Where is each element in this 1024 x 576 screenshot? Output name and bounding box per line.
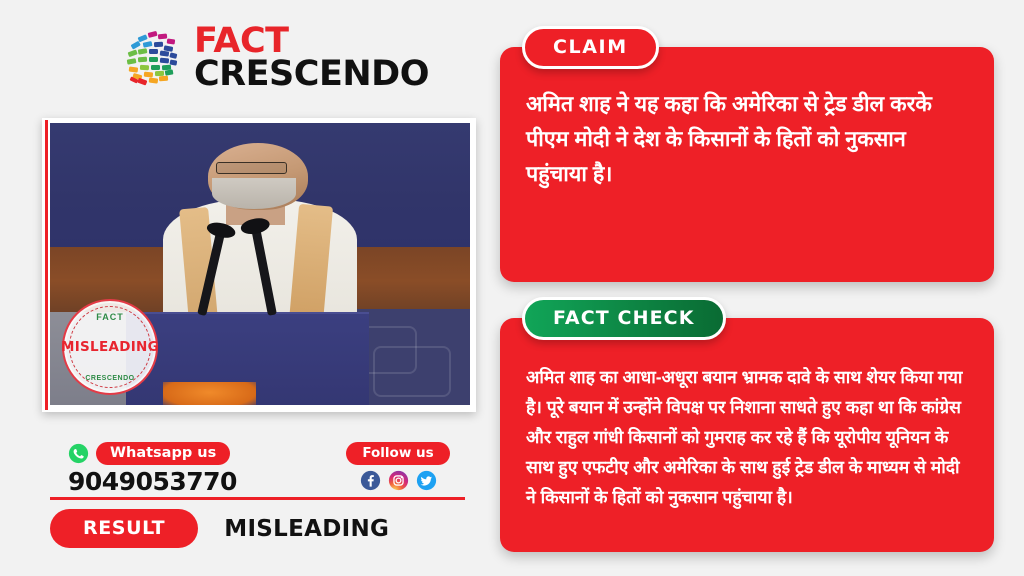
right-panel: CLAIM अमित शाह ने यह कहा कि अमेरिका से ट…: [492, 0, 1024, 576]
whatsapp-label[interactable]: Whatsapp us: [96, 442, 230, 465]
subject-photo: FACT MISLEADING CRESCENDO: [42, 118, 476, 412]
instagram-icon[interactable]: [388, 470, 409, 491]
fact-check-card: FACT CHECK अमित शाह का आधा-अधूरा बयान भ्…: [500, 318, 994, 552]
globe-mosaic-icon: [122, 27, 184, 89]
follow-block: Follow us: [333, 442, 463, 491]
twitter-icon[interactable]: [416, 470, 437, 491]
facebook-icon[interactable]: [360, 470, 381, 491]
stamp-bottom-text: CRESCENDO: [64, 375, 156, 382]
claim-body: अमित शाह ने यह कहा कि अमेरिका से ट्रेड ड…: [500, 47, 994, 215]
photo-accent-bar: [45, 120, 48, 410]
result-label: RESULT: [50, 509, 198, 548]
result-verdict: MISLEADING: [224, 516, 389, 542]
fact-check-text: अमित शाह का आधा-अधूरा बयान भ्रामक दावे क…: [526, 358, 968, 512]
claim-text: अमित शाह ने यह कहा कि अमेरिका से ट्रेड ड…: [526, 87, 968, 191]
verdict-stamp: FACT MISLEADING CRESCENDO: [62, 299, 158, 395]
left-panel: FACT CRESCENDO: [0, 0, 492, 576]
photo-image: FACT MISLEADING CRESCENDO: [50, 123, 470, 405]
stamp-top-text: FACT: [64, 312, 156, 322]
photo-flowers: [163, 382, 255, 405]
brand-name-line2: CRESCENDO: [194, 58, 429, 91]
fact-check-body: अमित शाह का आधा-अधूरा बयान भ्रामक दावे क…: [500, 318, 994, 536]
social-icons: [333, 470, 463, 491]
fact-check-badge: FACT CHECK: [522, 297, 726, 340]
photo-speaker-glasses: [216, 162, 287, 173]
follow-label: Follow us: [346, 442, 449, 465]
whatsapp-icon[interactable]: [68, 443, 89, 464]
brand-logo: FACT CRESCENDO: [122, 25, 429, 92]
fact-check-graphic: FACT CRESCENDO: [0, 0, 1024, 576]
claim-badge: CLAIM: [522, 26, 659, 69]
footer-divider: [50, 497, 465, 500]
contact-row: Whatsapp us 9049053770 Follow us: [68, 442, 468, 498]
brand-wordmark: FACT CRESCENDO: [194, 25, 429, 92]
brand-name-line1: FACT: [194, 25, 429, 58]
result-row: RESULT MISLEADING: [50, 509, 389, 548]
photo-speaker-beard: [212, 178, 296, 209]
claim-card: CLAIM अमित शाह ने यह कहा कि अमेरिका से ट…: [500, 47, 994, 282]
